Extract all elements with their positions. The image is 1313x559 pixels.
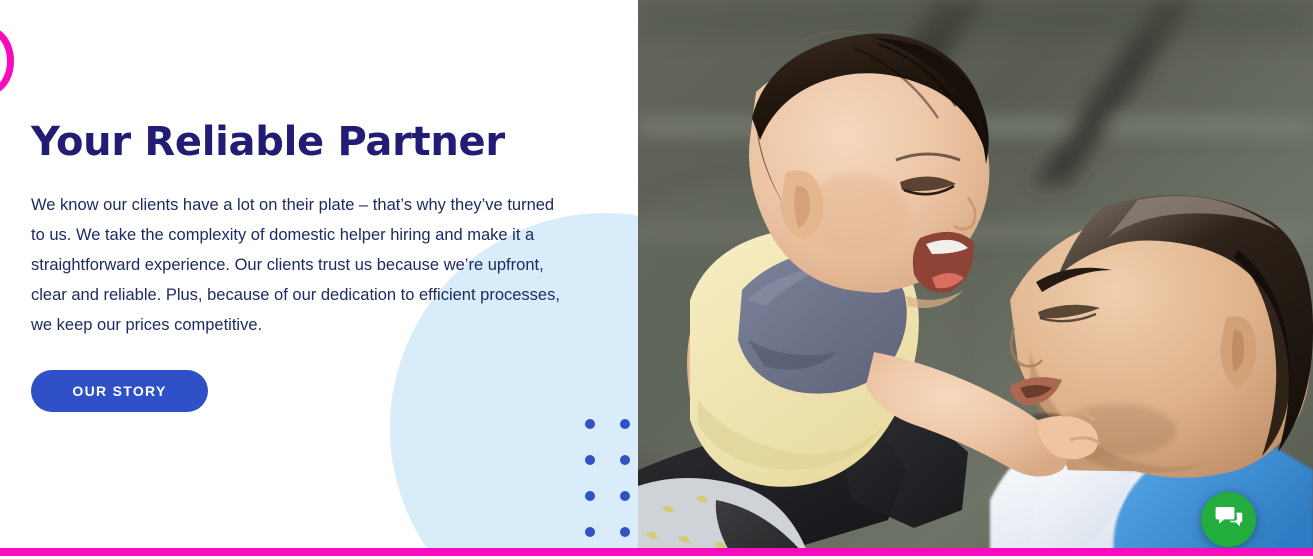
chat-widget-button[interactable] — [1201, 492, 1256, 547]
grid-dot — [585, 455, 595, 465]
hero-photo — [638, 0, 1313, 559]
chat-bubble-icon — [1215, 505, 1243, 534]
content-panel: Your Reliable Partner We know our client… — [0, 0, 638, 559]
magenta-ring-decoration — [0, 27, 14, 95]
grid-dot — [620, 491, 630, 501]
dot-grid-decoration — [585, 419, 635, 541]
page-title: Your Reliable Partner — [31, 0, 571, 166]
our-story-button[interactable]: OUR STORY — [31, 370, 208, 412]
grid-dot — [585, 527, 595, 537]
bottom-accent-bar — [0, 548, 1313, 556]
hero-section: Your Reliable Partner We know our client… — [0, 0, 1313, 559]
body-paragraph: We know our clients have a lot on their … — [31, 166, 568, 340]
grid-dot — [620, 527, 630, 537]
grid-dot — [620, 419, 630, 429]
grid-dot — [620, 455, 630, 465]
text-content: Your Reliable Partner We know our client… — [31, 0, 571, 412]
grid-dot — [585, 491, 595, 501]
grid-dot — [585, 419, 595, 429]
